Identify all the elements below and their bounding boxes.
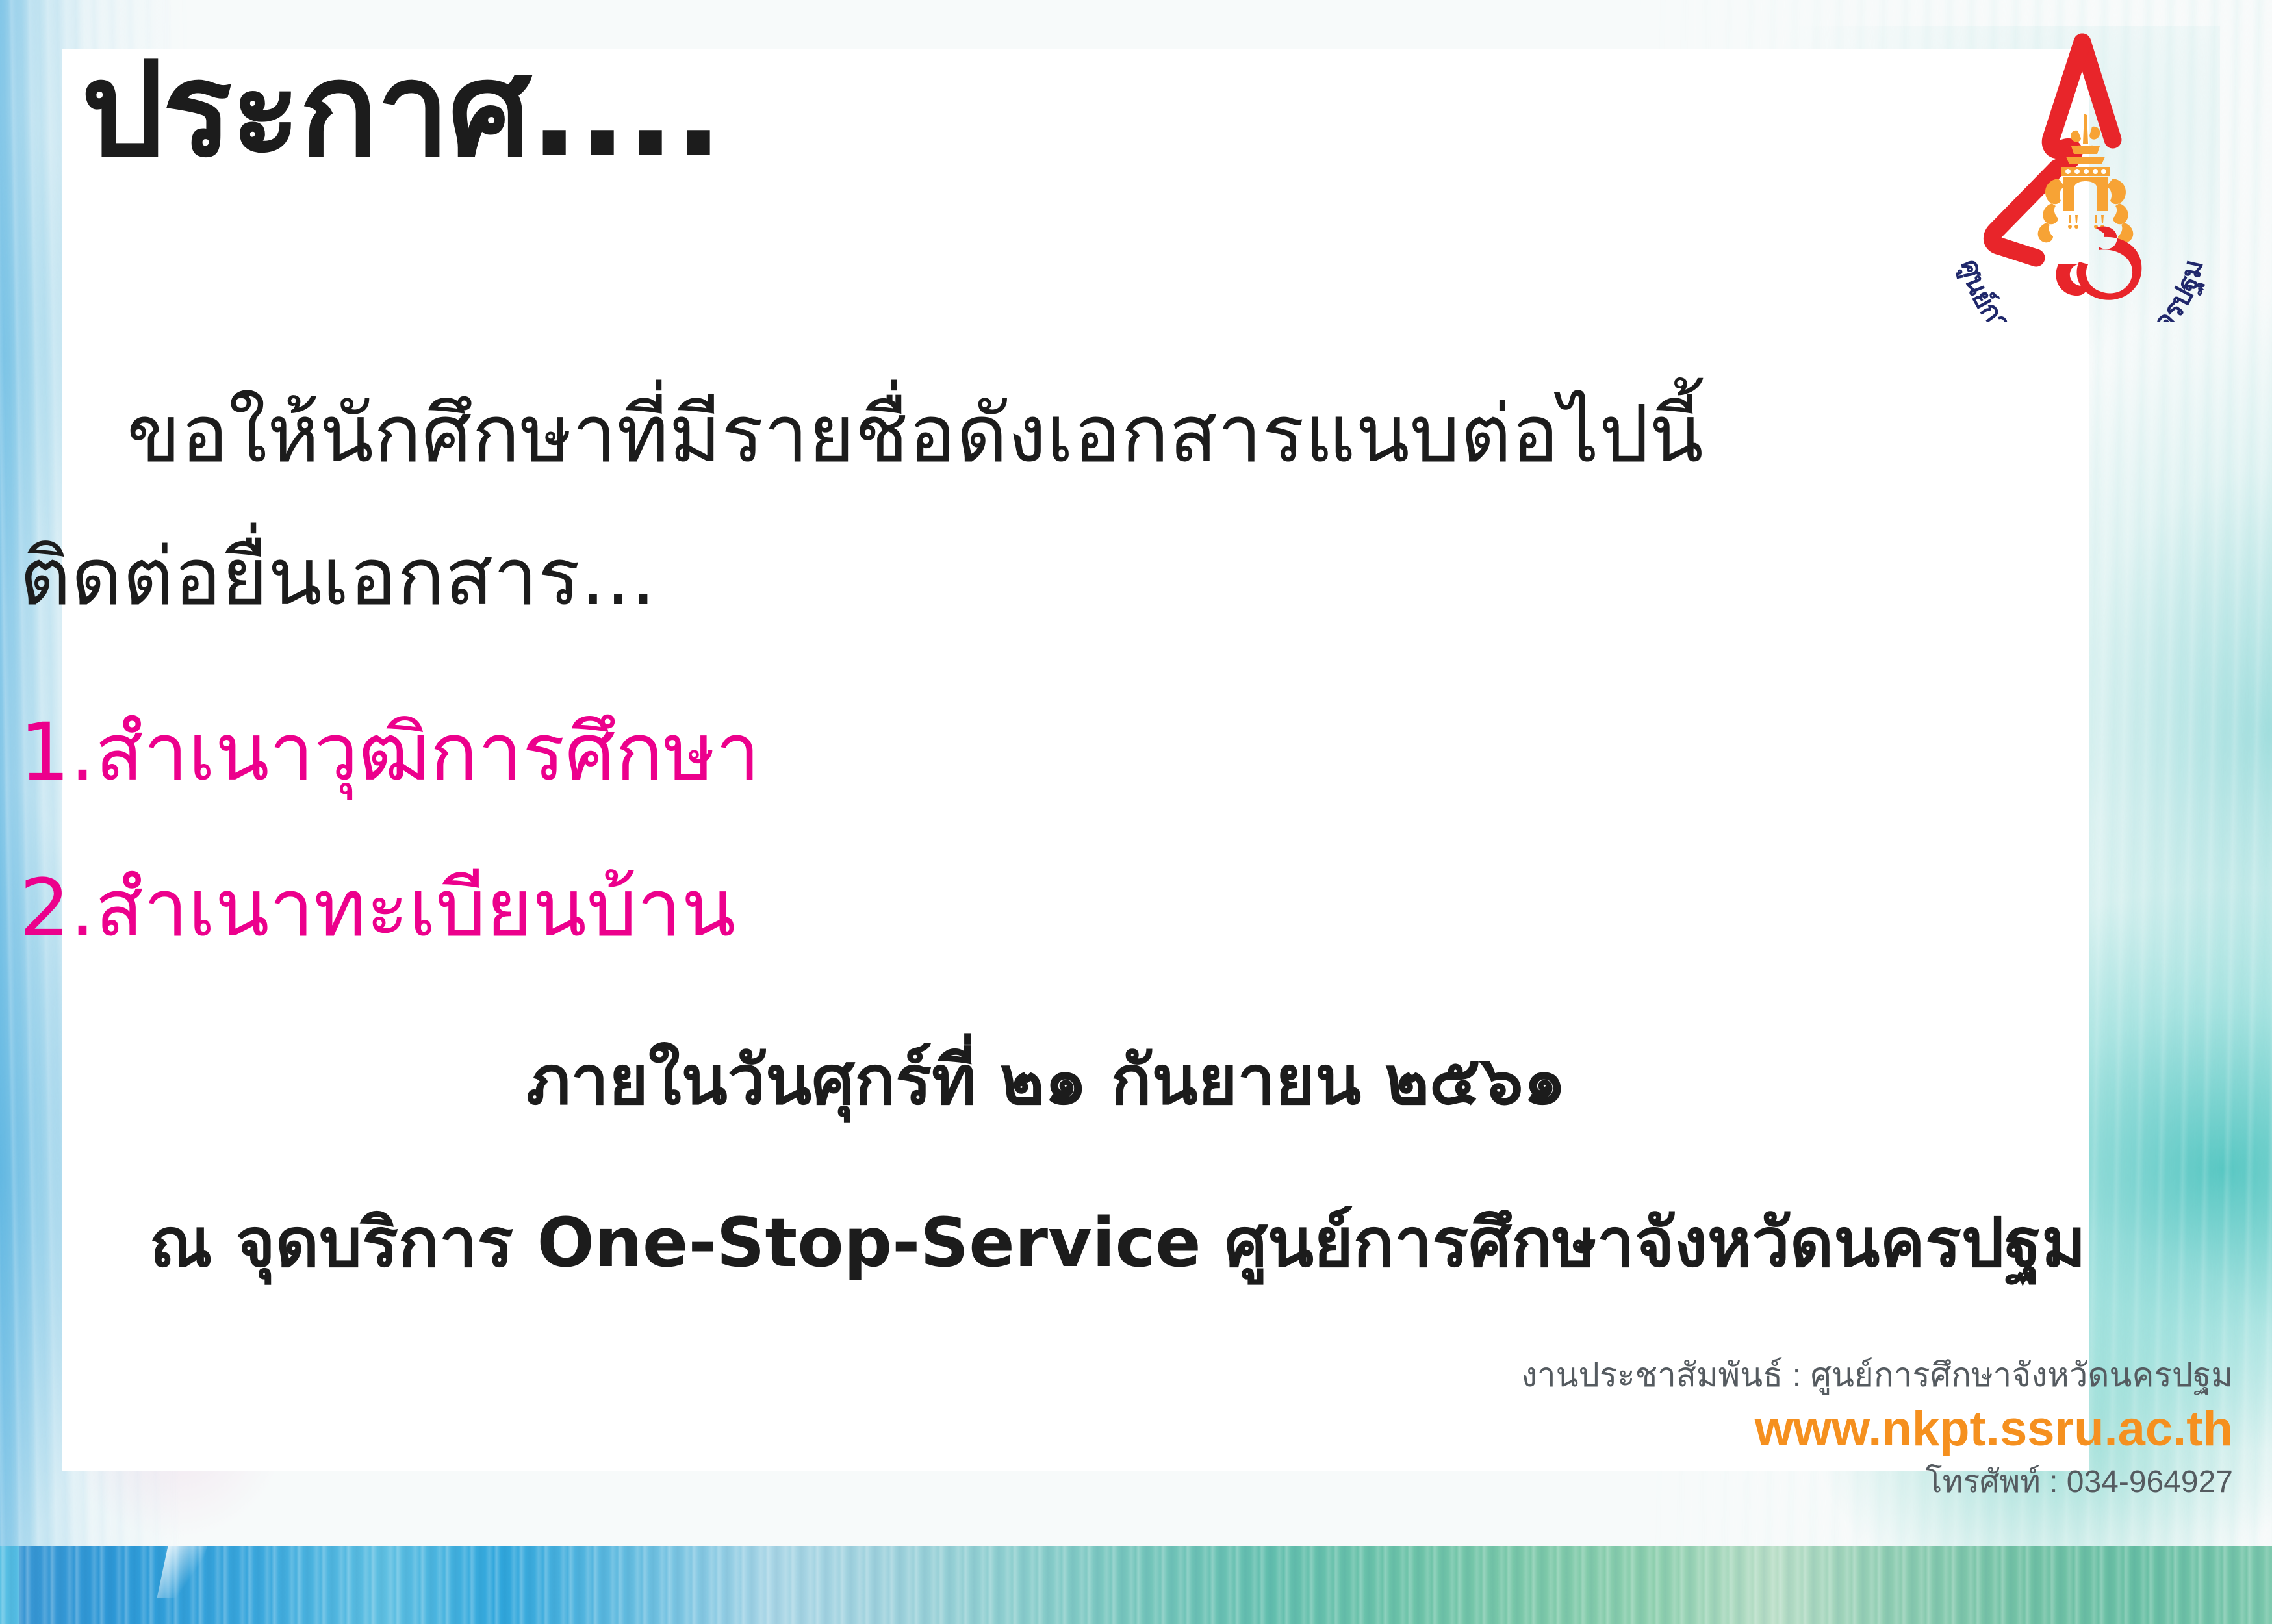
footer: งานประชาสัมพันธ์ : ศูนย์การศึกษาจังหวัดน… <box>1453 1354 2233 1503</box>
footer-website-url[interactable]: www.nkpt.ssru.ac.th <box>1453 1396 2233 1463</box>
footer-phone: โทรศัพท์ : 034-964927 <box>1453 1462 2233 1503</box>
announcement-poster: ประกาศ.... ขอให้นักศึกษาที่มีรายชื่อดังเ… <box>0 0 2272 1624</box>
requirement-item-1: 1.สำเนาวุฒิการศึกษา <box>19 689 760 815</box>
body-text-line-1: ขอให้นักศึกษาที่มีรายชื่อดังเอกสารแนบต่อ… <box>127 370 1704 496</box>
requirement-item-2: 2.สำเนาทะเบียนบ้าน <box>19 844 735 971</box>
location-text: ณ จุดบริการ One-Stop-Service ศูนย์การศึก… <box>149 1189 2086 1296</box>
deadline-text: ภายในวันศุกร์ที่ ๒๑ กันยายน ๒๕๖๑ <box>526 1026 1566 1134</box>
ssru-nakhon-pathom-logo: ศูนย์การศึกษาจังหวัดนครปฐม <box>1924 16 2236 322</box>
body-text-line-2: ติดต่อยื่นเอกสาร... <box>19 513 656 639</box>
footer-credit: งานประชาสัมพันธ์ : ศูนย์การศึกษาจังหวัดน… <box>1453 1354 2233 1396</box>
page-title: ประกาศ.... <box>81 45 722 175</box>
